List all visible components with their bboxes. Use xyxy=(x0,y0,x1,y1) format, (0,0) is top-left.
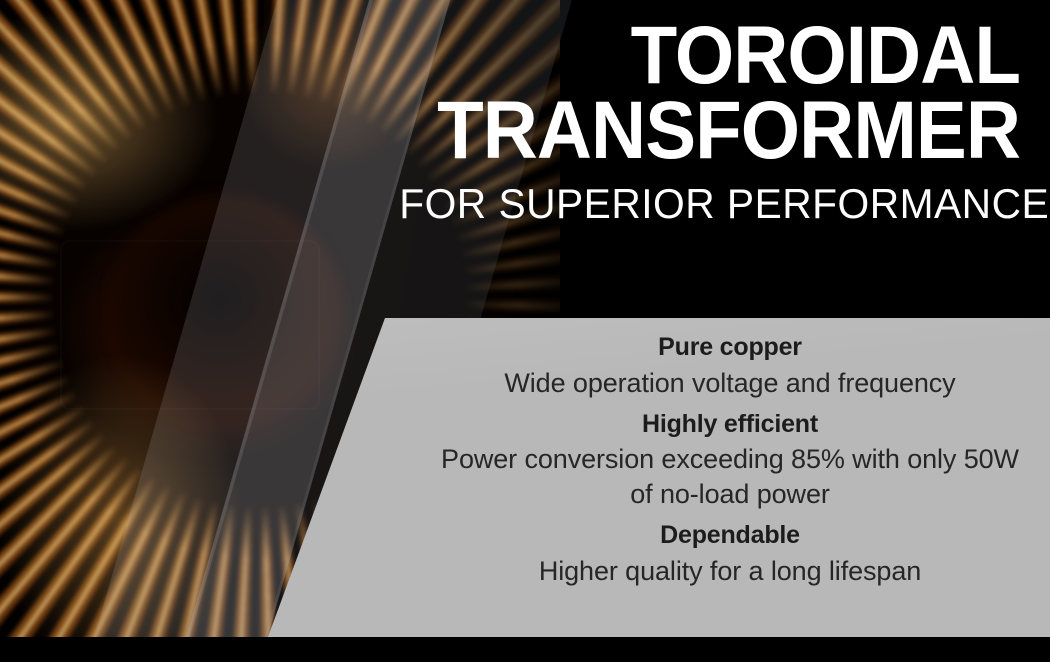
feature-title: Dependable xyxy=(430,518,1030,554)
feature-item: Dependable Higher quality for a long lif… xyxy=(430,518,1030,589)
headline-line-2: TRANSFORMER xyxy=(425,93,1020,168)
feature-item: Pure copper Wide operation voltage and f… xyxy=(430,330,1030,401)
footer-strip xyxy=(0,637,1050,662)
feature-list: Pure copper Wide operation voltage and f… xyxy=(430,330,1030,589)
product-banner: TOROIDAL TRANSFORMER FOR SUPERIOR PERFOR… xyxy=(0,0,1050,662)
headline-block: TOROIDAL TRANSFORMER FOR SUPERIOR PERFOR… xyxy=(380,18,1020,225)
headline-subtitle: FOR SUPERIOR PERFORMANCE xyxy=(399,183,1020,225)
feature-description: Higher quality for a long lifespan xyxy=(430,554,1030,589)
feature-description: Power conversion exceeding 85% with only… xyxy=(430,442,1030,512)
feature-description: Wide operation voltage and frequency xyxy=(430,366,1030,401)
headline-line-1: TOROIDAL xyxy=(425,18,1020,93)
feature-title: Highly efficient xyxy=(430,407,1030,443)
feature-item: Highly efficient Power conversion exceed… xyxy=(430,407,1030,513)
feature-title: Pure copper xyxy=(430,330,1030,366)
